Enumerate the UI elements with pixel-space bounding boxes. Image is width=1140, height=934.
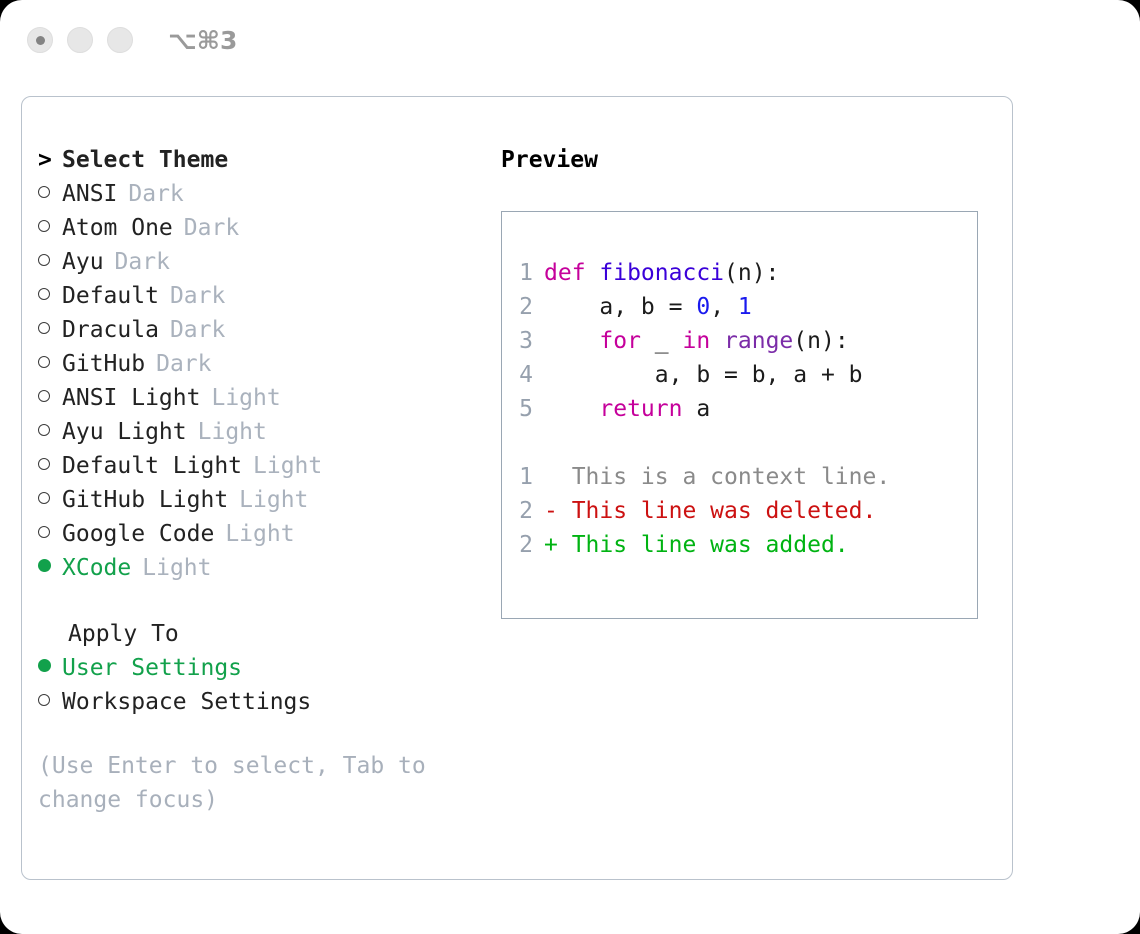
radio-unselected-icon bbox=[38, 211, 62, 245]
code-line-number: 2 bbox=[502, 290, 544, 324]
section-spacer bbox=[38, 585, 498, 617]
theme-list-item[interactable]: ANSI LightLight bbox=[38, 381, 498, 415]
theme-variant-label: Light bbox=[211, 381, 280, 415]
code-line-number: 3 bbox=[502, 324, 544, 358]
apply-to-option-label: User Settings bbox=[62, 651, 242, 685]
theme-variant-label: Light bbox=[239, 483, 308, 517]
code-token-num: 1 bbox=[738, 294, 752, 320]
radio-unselected-circle bbox=[38, 220, 50, 232]
code-diff-spacer bbox=[502, 426, 977, 460]
radio-selected-icon bbox=[38, 551, 62, 585]
code-line: 4 a, b = b, a + b bbox=[502, 358, 977, 392]
code-token-pln bbox=[710, 328, 724, 354]
code-line: 3 for _ in range(n): bbox=[502, 324, 977, 358]
theme-variant-label: Dark bbox=[170, 279, 225, 313]
maximize-button-icon[interactable] bbox=[107, 27, 133, 53]
preview-box: 1def fibonacci(n):2 a, b = 0, 13 for _ i… bbox=[501, 211, 978, 619]
code-token-bi: range bbox=[724, 328, 793, 354]
code-line-text: return a bbox=[544, 392, 710, 426]
code-line-number: 1 bbox=[502, 256, 544, 290]
diff-line: 1 This is a context line. bbox=[502, 460, 977, 494]
minimize-button-icon[interactable] bbox=[67, 27, 93, 53]
radio-unselected-icon bbox=[38, 483, 62, 517]
radio-selected-dot bbox=[38, 559, 51, 572]
theme-list: ANSIDarkAtom OneDarkAyuDarkDefaultDarkDr… bbox=[38, 177, 498, 585]
theme-list-item[interactable]: GitHubDark bbox=[38, 347, 498, 381]
theme-variant-label: Dark bbox=[115, 245, 170, 279]
code-token-kw: return bbox=[599, 396, 682, 422]
theme-list-item[interactable]: Atom OneDark bbox=[38, 211, 498, 245]
theme-name-label: Default Light bbox=[62, 449, 242, 483]
apply-to-option[interactable]: User Settings bbox=[38, 651, 498, 685]
diff-line-number: 2 bbox=[502, 528, 544, 562]
diff-line: 2- This line was deleted. bbox=[502, 494, 977, 528]
code-line-text: for _ in range(n): bbox=[544, 324, 849, 358]
apply-to-heading: Apply To bbox=[38, 617, 498, 651]
theme-list-item[interactable]: DefaultDark bbox=[38, 279, 498, 313]
code-token-pln: _ bbox=[641, 328, 683, 354]
radio-selected-icon bbox=[38, 651, 62, 685]
keyboard-shortcut-label: ⌥⌘3 bbox=[168, 28, 237, 53]
apply-to-option[interactable]: Workspace Settings bbox=[38, 685, 498, 719]
theme-variant-label: Light bbox=[142, 551, 211, 585]
close-button-icon[interactable] bbox=[27, 27, 53, 53]
theme-variant-label: Dark bbox=[128, 177, 183, 211]
radio-unselected-circle bbox=[38, 254, 50, 266]
diff-sample: 1 This is a context line.2- This line wa… bbox=[502, 460, 977, 562]
theme-list-item[interactable]: AyuDark bbox=[38, 245, 498, 279]
apply-to-option-label: Workspace Settings bbox=[62, 685, 311, 719]
radio-unselected-circle bbox=[38, 458, 50, 470]
radio-unselected-icon bbox=[38, 245, 62, 279]
close-dot bbox=[36, 36, 45, 45]
theme-name-label: ANSI Light bbox=[62, 381, 200, 415]
code-token-pln: a, b = b, a + b bbox=[544, 362, 863, 388]
theme-name-label: Ayu bbox=[62, 245, 104, 279]
radio-unselected-icon bbox=[38, 313, 62, 347]
code-token-pln: a bbox=[682, 396, 710, 422]
theme-name-label: GitHub bbox=[62, 347, 145, 381]
code-token-pln: , bbox=[710, 294, 738, 320]
radio-unselected-circle bbox=[38, 322, 50, 334]
code-line: 2 a, b = 0, 1 bbox=[502, 290, 977, 324]
code-token-kw: def bbox=[544, 260, 599, 286]
code-token-pln: a, b = bbox=[544, 294, 696, 320]
radio-unselected-circle bbox=[38, 526, 50, 538]
theme-variant-label: Dark bbox=[156, 347, 211, 381]
diff-line-text-add: + This line was added. bbox=[544, 528, 849, 562]
theme-name-label: GitHub Light bbox=[62, 483, 228, 517]
code-token-pln bbox=[544, 328, 599, 354]
theme-name-label: Default bbox=[62, 279, 159, 313]
theme-name-label: Google Code bbox=[62, 517, 214, 551]
select-theme-heading-label: Select Theme bbox=[62, 143, 228, 177]
theme-list-item[interactable]: Google CodeLight bbox=[38, 517, 498, 551]
app-window: ⌥⌘3 > Select Theme ANSIDarkAtom OneDarkA… bbox=[0, 0, 1140, 934]
radio-unselected-circle bbox=[38, 288, 50, 300]
diff-line-text-del: - This line was deleted. bbox=[544, 494, 876, 528]
preview-heading: Preview bbox=[501, 143, 991, 177]
radio-unselected-icon bbox=[38, 449, 62, 483]
theme-list-item[interactable]: ANSIDark bbox=[38, 177, 498, 211]
code-line: 5 return a bbox=[502, 392, 977, 426]
radio-unselected-circle bbox=[38, 424, 50, 436]
theme-list-item[interactable]: Ayu LightLight bbox=[38, 415, 498, 449]
traffic-light-group bbox=[27, 27, 133, 53]
radio-unselected-circle bbox=[38, 694, 50, 706]
keyboard-hint-text: (Use Enter to select, Tab to change focu… bbox=[38, 749, 458, 817]
code-token-pln bbox=[544, 396, 599, 422]
radio-unselected-circle bbox=[38, 390, 50, 402]
radio-selected-dot bbox=[38, 659, 51, 672]
radio-unselected-circle bbox=[38, 186, 50, 198]
code-line-number: 4 bbox=[502, 358, 544, 392]
code-line: 1def fibonacci(n): bbox=[502, 256, 977, 290]
radio-unselected-icon bbox=[38, 279, 62, 313]
theme-variant-label: Light bbox=[198, 415, 267, 449]
preview-column: Preview 1def fibonacci(n):2 a, b = 0, 13… bbox=[501, 143, 991, 619]
radio-unselected-icon bbox=[38, 177, 62, 211]
radio-unselected-icon bbox=[38, 347, 62, 381]
prompt-caret-icon: > bbox=[38, 143, 62, 177]
diff-line-number: 1 bbox=[502, 460, 544, 494]
diff-line-number: 2 bbox=[502, 494, 544, 528]
theme-name-label: Atom One bbox=[62, 211, 173, 245]
radio-unselected-icon bbox=[38, 685, 62, 719]
theme-name-label: ANSI bbox=[62, 177, 117, 211]
theme-selector-column: > Select Theme ANSIDarkAtom OneDarkAyuDa… bbox=[38, 143, 498, 817]
code-line-text: def fibonacci(n): bbox=[544, 256, 779, 290]
radio-unselected-icon bbox=[38, 381, 62, 415]
code-line-text: a, b = b, a + b bbox=[544, 358, 863, 392]
theme-name-label: Dracula bbox=[62, 313, 159, 347]
code-token-num: 0 bbox=[696, 294, 710, 320]
theme-list-item[interactable]: Default LightLight bbox=[38, 449, 498, 483]
code-line-number: 5 bbox=[502, 392, 544, 426]
code-sample: 1def fibonacci(n):2 a, b = 0, 13 for _ i… bbox=[502, 256, 977, 426]
theme-name-label: Ayu Light bbox=[62, 415, 187, 449]
theme-name-label: XCode bbox=[62, 551, 131, 585]
theme-variant-label: Dark bbox=[184, 211, 239, 245]
select-theme-heading: > Select Theme bbox=[38, 143, 498, 177]
theme-variant-label: Light bbox=[225, 517, 294, 551]
theme-variant-label: Light bbox=[253, 449, 322, 483]
code-token-pln: (n): bbox=[793, 328, 848, 354]
diff-line: 2+ This line was added. bbox=[502, 528, 977, 562]
diff-line-text-ctx: This is a context line. bbox=[544, 460, 890, 494]
main-panel: > Select Theme ANSIDarkAtom OneDarkAyuDa… bbox=[21, 96, 1013, 880]
theme-variant-label: Dark bbox=[170, 313, 225, 347]
theme-list-item[interactable]: DraculaDark bbox=[38, 313, 498, 347]
radio-unselected-circle bbox=[38, 356, 50, 368]
radio-unselected-icon bbox=[38, 517, 62, 551]
theme-list-item[interactable]: XCodeLight bbox=[38, 551, 498, 585]
code-line-text: a, b = 0, 1 bbox=[544, 290, 752, 324]
code-token-kw: for bbox=[599, 328, 641, 354]
theme-list-item[interactable]: GitHub LightLight bbox=[38, 483, 498, 517]
code-token-pln: (n): bbox=[724, 260, 779, 286]
radio-unselected-circle bbox=[38, 492, 50, 504]
window-titlebar: ⌥⌘3 bbox=[0, 0, 1140, 80]
code-token-fn: fibonacci bbox=[599, 260, 724, 286]
apply-to-list: User SettingsWorkspace Settings bbox=[38, 651, 498, 719]
code-token-kw: in bbox=[682, 328, 710, 354]
radio-unselected-icon bbox=[38, 415, 62, 449]
